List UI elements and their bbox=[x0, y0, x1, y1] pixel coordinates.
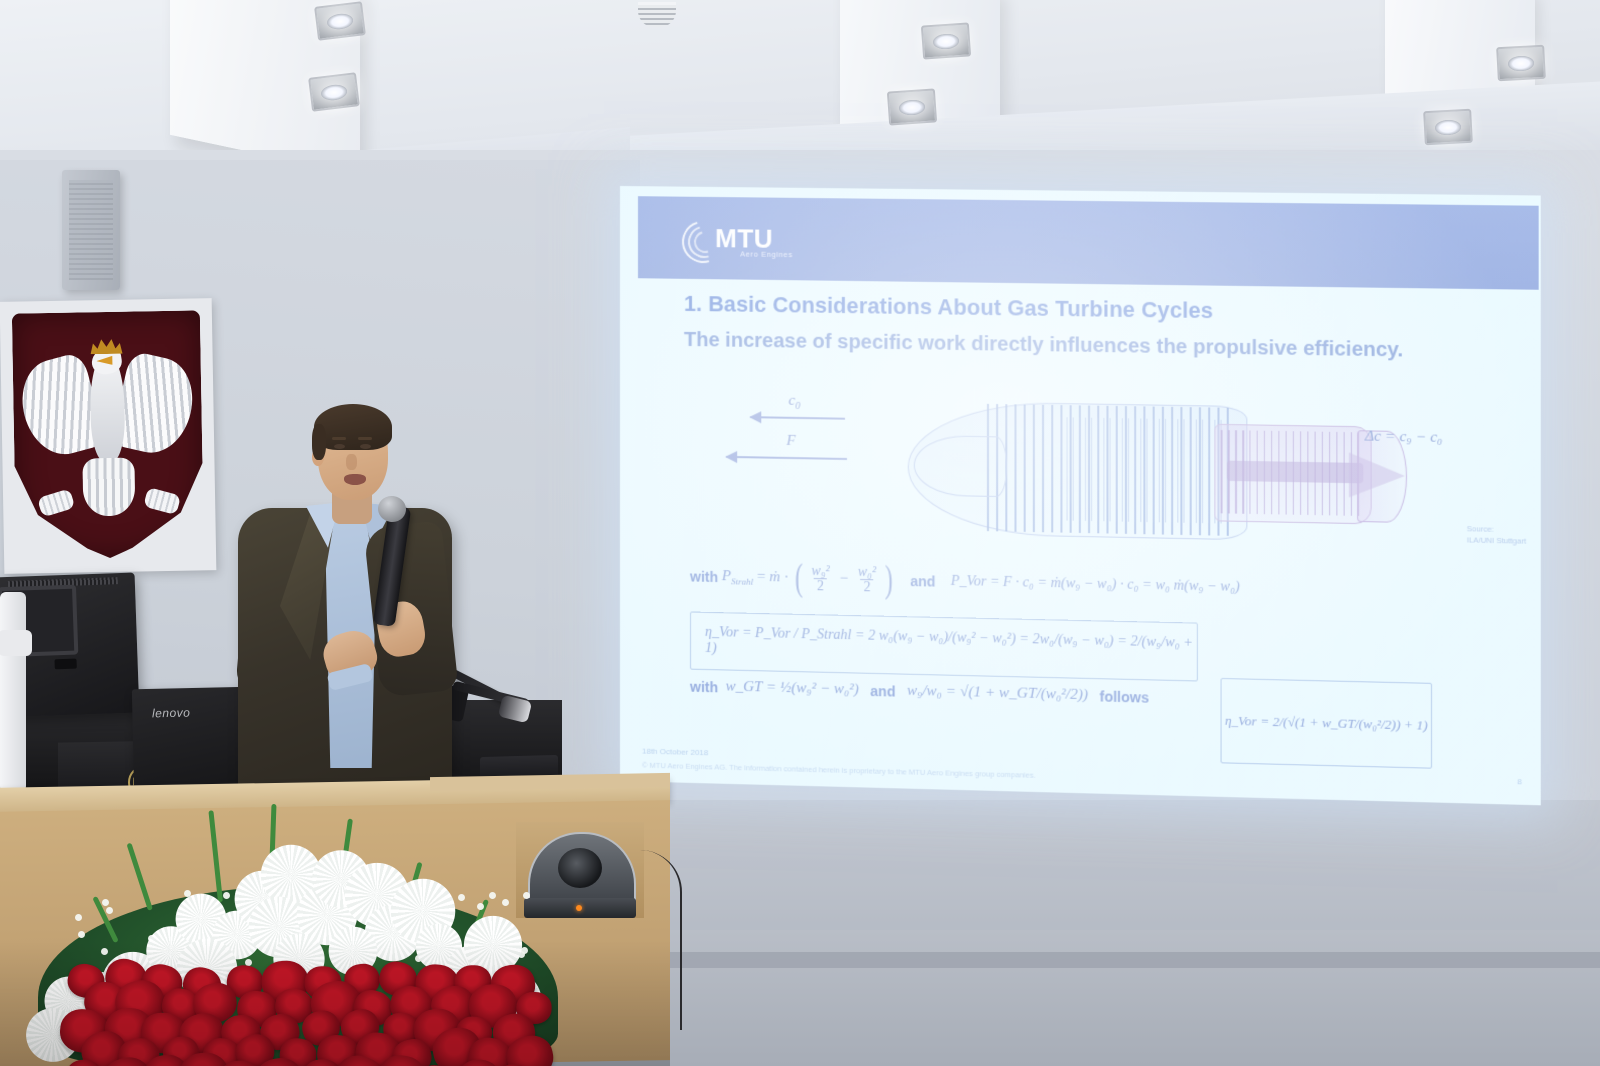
label-c0: c0 bbox=[788, 393, 800, 412]
slide-page-number: 8 bbox=[1517, 777, 1522, 786]
ceiling-downlight-icon bbox=[1496, 45, 1546, 81]
mtu-logo: MTU Aero Engines bbox=[682, 219, 813, 265]
mtu-tagline: Aero Engines bbox=[740, 249, 793, 259]
result-equation: η_Vor = 2/(√(1 + w_GT/(w₀²/2)) + 1) bbox=[1225, 713, 1428, 734]
wgt-equation: w_GT = ½(w₉² − w₀²) bbox=[726, 678, 859, 698]
podium-shadow bbox=[0, 940, 670, 1066]
keyword-with: with bbox=[690, 568, 718, 585]
grass-blade bbox=[126, 843, 152, 911]
presenter-eyebrow-left bbox=[332, 437, 346, 440]
eagle-talon-left bbox=[37, 488, 75, 517]
ceiling-downlight-icon bbox=[308, 72, 360, 112]
p-vor-equation: P_Vor = F · c₀ = ṁ(w₉ − w₀) · c₀ = w₀ m… bbox=[951, 574, 1240, 596]
ceiling-downlight-icon bbox=[1423, 109, 1473, 145]
presenter-eyebrow-right bbox=[358, 437, 372, 440]
keyword-with-2: with bbox=[690, 678, 718, 695]
gypsophila-floret bbox=[477, 903, 484, 910]
label-F: F bbox=[786, 433, 795, 450]
gypsophila-floret bbox=[75, 914, 82, 921]
eta-vor-equation: η_Vor = P_Vor / P_Strahl = 2 w₀(w₉ − w₀)… bbox=[705, 625, 1197, 668]
gypsophila-floret bbox=[502, 899, 509, 906]
arrow-F-icon bbox=[726, 456, 847, 460]
label-delta-c: Δc = c₉ − c₀ bbox=[1365, 428, 1443, 447]
source-attribution: Source: ILA/UNI Stuttgart bbox=[1467, 524, 1526, 547]
ceiling-downlight-icon bbox=[921, 22, 971, 59]
result-boxed-equation: η_Vor = 2/(√(1 + w_GT/(w₀²/2)) + 1) bbox=[1221, 678, 1432, 769]
gypsophila-floret bbox=[458, 894, 465, 901]
turbofan-engine-diagram: c0 F Δc = c₉ − c₀ bbox=[720, 388, 1436, 553]
arrow-c0-icon bbox=[750, 416, 845, 420]
slide-subtitle: The increase of specific work directly i… bbox=[684, 327, 1420, 364]
monitor-port bbox=[54, 659, 76, 670]
gypsophila-floret bbox=[78, 931, 85, 938]
polish-coat-of-arms bbox=[0, 298, 216, 574]
wall-speaker bbox=[62, 170, 120, 290]
eagle-icon bbox=[20, 329, 195, 532]
eagle-talon-right bbox=[143, 487, 181, 515]
keyword-and: and bbox=[910, 573, 935, 590]
gypsophila-floret bbox=[489, 892, 496, 899]
keyword-follows: follows bbox=[1100, 688, 1149, 705]
slide-date: 18th October 2018 bbox=[642, 747, 708, 758]
frac-w9sq-2: w₉² 2 bbox=[808, 564, 832, 595]
mdot-symbol: ṁ bbox=[769, 570, 780, 587]
presenter-mouth bbox=[344, 474, 366, 485]
slide: MTU Aero Engines 1. Basic Considerations… bbox=[620, 186, 1541, 805]
projection-screen: MTU Aero Engines 1. Basic Considerations… bbox=[620, 186, 1541, 805]
engine-shaft bbox=[1227, 461, 1364, 484]
frac-w0sq-2: w₀² 2 bbox=[855, 565, 879, 596]
compressor-blades bbox=[1060, 417, 1224, 523]
presenter-eye-left bbox=[334, 444, 345, 449]
slide-copyright: © MTU Aero Engines AG. The information c… bbox=[642, 761, 1036, 780]
crown-icon bbox=[90, 336, 122, 355]
presenter-sideburn bbox=[312, 424, 326, 460]
gypsophila-floret bbox=[102, 899, 109, 906]
lenovo-logo: lenovo bbox=[152, 706, 191, 721]
p-strahl-symbol: PStrahl bbox=[722, 568, 753, 587]
keyword-and-2: and bbox=[870, 682, 895, 699]
floor-strip bbox=[640, 952, 1600, 968]
ceiling-downlight-icon bbox=[314, 1, 366, 41]
eta-vor-boxed-equation: η_Vor = P_Vor / P_Strahl = 2 w₀(w₉ − w₀)… bbox=[690, 612, 1198, 682]
engine-cross-section bbox=[908, 393, 1401, 552]
presenter-nose bbox=[346, 454, 357, 470]
lecture-hall-photo: MTU Aero Engines 1. Basic Considerations… bbox=[0, 0, 1600, 1066]
formula-row-1: with PStrahl = ṁ · ( w₉² 2 − w₀² 2 ) an… bbox=[690, 561, 1520, 609]
presenter bbox=[236, 404, 466, 804]
presenter-eye-right bbox=[360, 444, 371, 449]
slide-title: 1. Basic Considerations About Gas Turbin… bbox=[684, 292, 1213, 324]
eagle-tail bbox=[82, 458, 135, 517]
monitor-arm-joint bbox=[0, 630, 32, 656]
gypsophila-floret bbox=[106, 907, 113, 914]
grass-blade bbox=[208, 810, 223, 902]
ceiling-downlight-icon bbox=[887, 88, 937, 125]
ratio-equation: w₉/w₀ = √(1 + w_GT/(w₀²/2)) bbox=[907, 683, 1088, 704]
gypsophila-floret bbox=[523, 892, 530, 899]
monitor-arm bbox=[0, 592, 26, 792]
slide-header-band: MTU Aero Engines bbox=[638, 196, 1539, 290]
